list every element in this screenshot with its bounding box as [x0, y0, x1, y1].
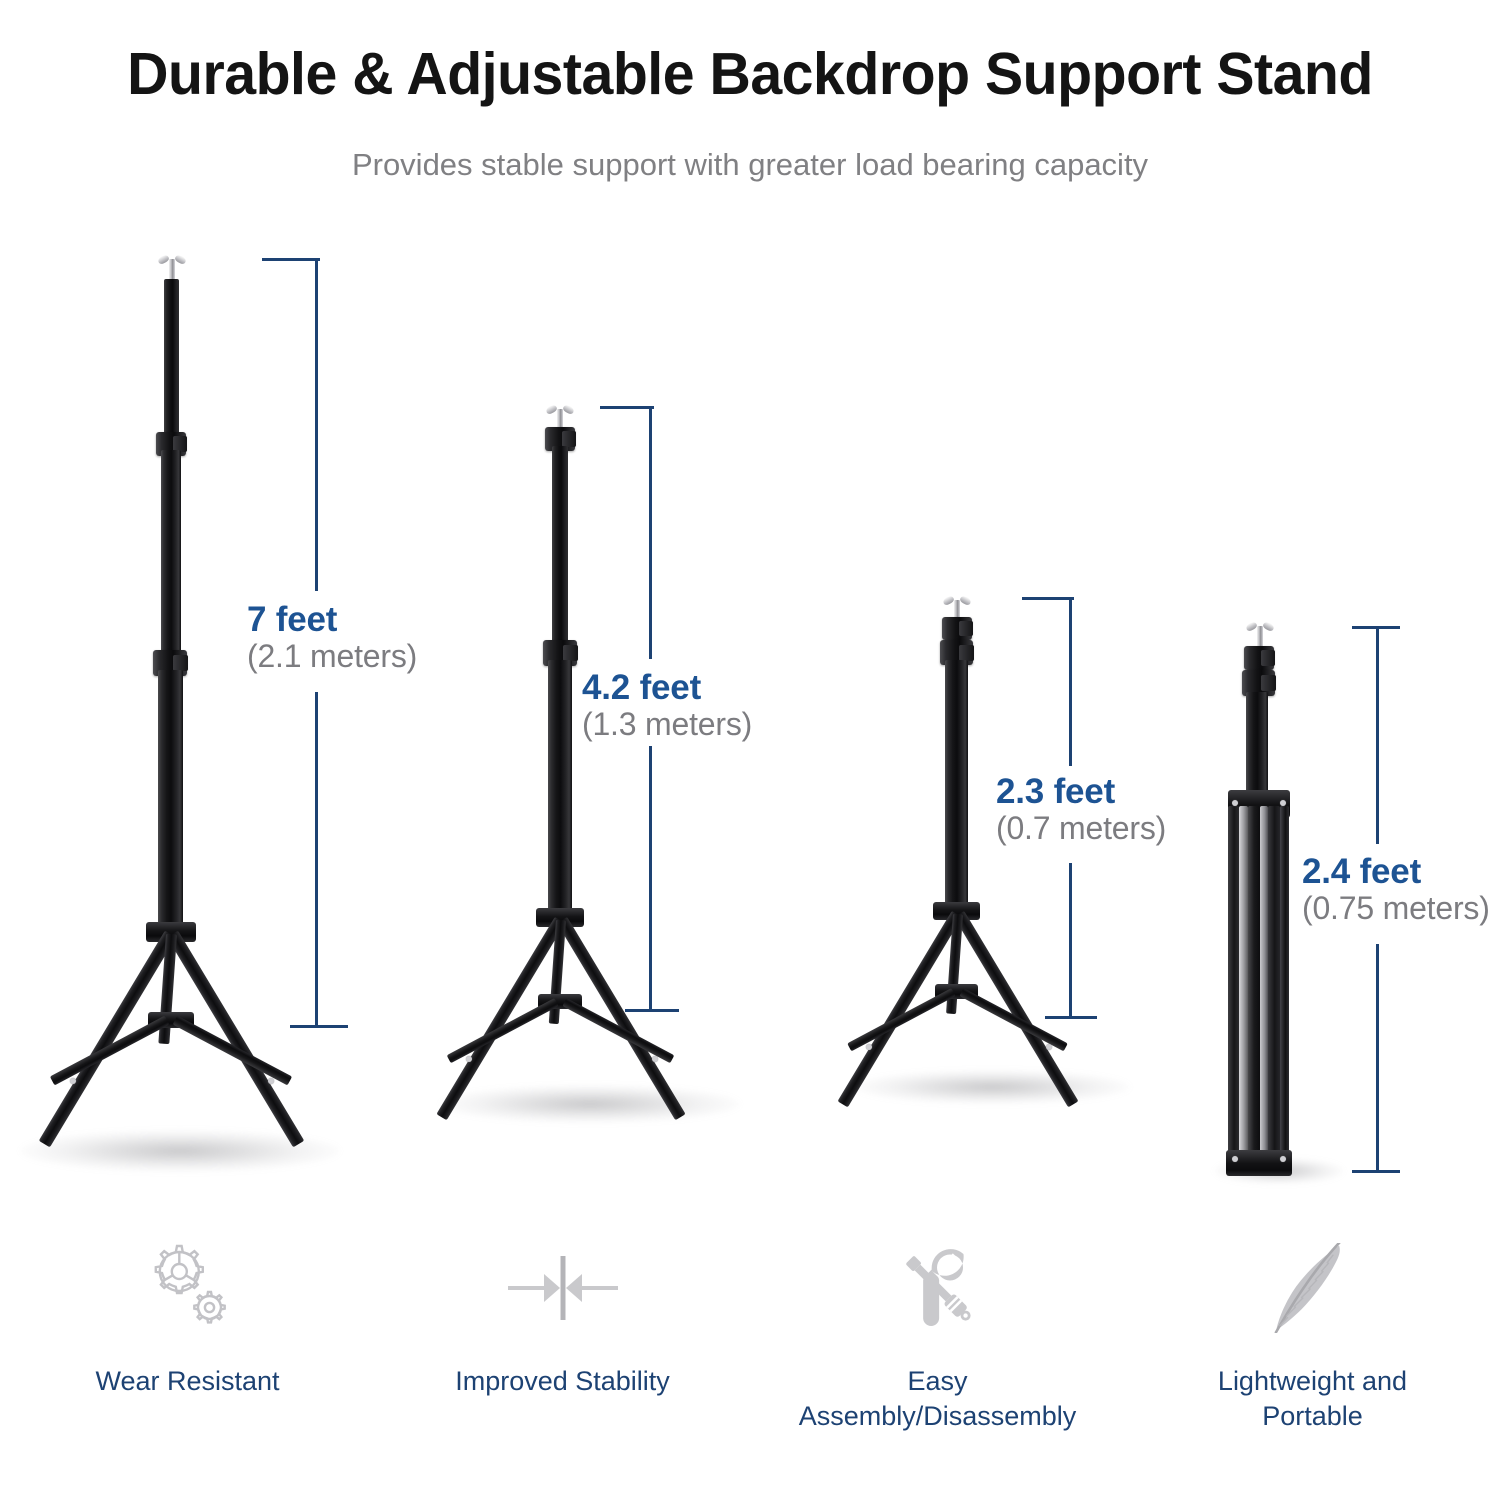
folded-leg-tube: [1239, 806, 1248, 1174]
compression-arrows-icon: [498, 1240, 628, 1336]
wrench-screwdriver-icon: [888, 1240, 988, 1336]
pole-section-middle: [161, 450, 181, 664]
stand-4-2-feet: 4.2 feet (1.3 meters): [400, 0, 800, 1200]
feature-list: Wear Resistant Improved Stability: [0, 1240, 1500, 1470]
dimension-label-2-3ft: 2.3 feet (0.7 meters): [996, 772, 1166, 847]
feature-lightweight-portable: Lightweight and Portable: [1125, 1240, 1500, 1470]
stand-2-4-feet-folded: 2.4 feet (0.75 meters): [1180, 0, 1500, 1250]
dimension-label-2-4ft: 2.4 feet (0.75 meters): [1302, 852, 1490, 927]
dimension-meters-value: (1.3 meters): [582, 707, 752, 743]
infographic-page: Durable & Adjustable Backdrop Support St…: [0, 0, 1500, 1500]
folded-leg-tube: [1280, 806, 1289, 1174]
spigot-wing-right: [562, 404, 575, 415]
dimension-feet-value: 4.2 feet: [582, 668, 752, 707]
locking-collar-upper: [1244, 646, 1274, 670]
brace-pin-left: [70, 1078, 76, 1084]
dimension-tick-bottom: [1045, 1016, 1097, 1019]
dimension-meters-value: (2.1 meters): [247, 639, 417, 675]
folded-foot-cap: [1226, 1150, 1292, 1176]
dimension-tick-top: [1022, 597, 1074, 600]
ground-shadow: [440, 1085, 740, 1123]
folded-leg-tube: [1248, 806, 1260, 1174]
dimension-feet-value: 2.3 feet: [996, 772, 1166, 811]
dimension-line-upper: [1376, 626, 1379, 844]
folded-hinge-pin-left: [1232, 800, 1238, 806]
locking-collar-upper: [942, 617, 972, 640]
feature-easy-assembly: Easy Assembly/Disassembly: [750, 1240, 1125, 1470]
dimension-line-upper: [1069, 597, 1072, 766]
gears-icon: [136, 1240, 240, 1336]
dimension-tick-top: [600, 406, 654, 409]
dimension-label-4-2ft: 4.2 feet (1.3 meters): [582, 668, 752, 743]
brace-pin-right: [268, 1078, 274, 1084]
dimension-label-7ft: 7 feet (2.1 meters): [247, 600, 417, 675]
feature-label: Lightweight and Portable: [1218, 1364, 1407, 1433]
dimension-tick-bottom: [625, 1009, 679, 1012]
tripod-leg-left: [39, 931, 176, 1148]
folded-leg-tube: [1268, 806, 1280, 1174]
ground-shadow: [855, 1070, 1130, 1104]
feather-icon: [1248, 1240, 1378, 1336]
pole-section-bottom: [158, 670, 183, 932]
feature-label: Improved Stability: [455, 1364, 670, 1399]
spigot-shaft: [557, 409, 563, 429]
folded-center-pole: [1246, 692, 1268, 802]
dimension-line-lower: [1376, 944, 1379, 1172]
folded-leg-tube: [1228, 806, 1239, 1174]
spigot-shaft: [169, 259, 175, 281]
dimension-tick-bottom: [1352, 1170, 1400, 1173]
dimension-line-upper: [315, 258, 318, 591]
dimension-feet-value: 2.4 feet: [1302, 852, 1490, 891]
folded-hinge-pin-right: [1280, 800, 1286, 806]
feature-label: Easy Assembly/Disassembly: [773, 1364, 1103, 1433]
folded-pin-right: [1280, 1156, 1286, 1162]
spigot-wing-right: [1262, 621, 1275, 632]
brace-pin-right: [1046, 1044, 1052, 1050]
stand-7-feet: 7 feet (2.1 meters): [0, 0, 380, 1200]
dimension-line-upper: [649, 406, 652, 659]
dimension-meters-value: (0.7 meters): [996, 811, 1166, 847]
pole-section-bottom: [548, 660, 572, 918]
brace-pin-right: [652, 1056, 658, 1062]
pole-section-bottom: [945, 660, 968, 910]
brace-pin-left: [466, 1056, 472, 1062]
dimension-line-lower: [649, 746, 652, 1012]
dimension-meters-value: (0.75 meters): [1302, 891, 1490, 927]
feature-improved-stability: Improved Stability: [375, 1240, 750, 1470]
folded-pin-left: [1232, 1156, 1238, 1162]
dimension-line-lower: [315, 692, 318, 1028]
dimension-tick-bottom: [290, 1025, 348, 1028]
spigot-wing-right: [959, 595, 972, 606]
spigot-wing-right: [174, 254, 187, 265]
dimension-feet-value: 7 feet: [247, 600, 417, 639]
spigot-shaft: [1257, 626, 1263, 648]
brace-pin-left: [866, 1044, 872, 1050]
feature-label: Wear Resistant: [95, 1364, 279, 1399]
pole-section-top: [164, 279, 179, 447]
tripod-leg-right: [167, 931, 304, 1148]
feature-wear-resistant: Wear Resistant: [0, 1240, 375, 1470]
folded-leg-tube: [1260, 806, 1268, 1174]
pole-section-top: [552, 446, 568, 644]
stand-2-3-feet: 2.3 feet (0.7 meters): [800, 0, 1200, 1200]
dimension-tick-top: [262, 258, 320, 261]
dimension-line-lower: [1069, 863, 1072, 1019]
